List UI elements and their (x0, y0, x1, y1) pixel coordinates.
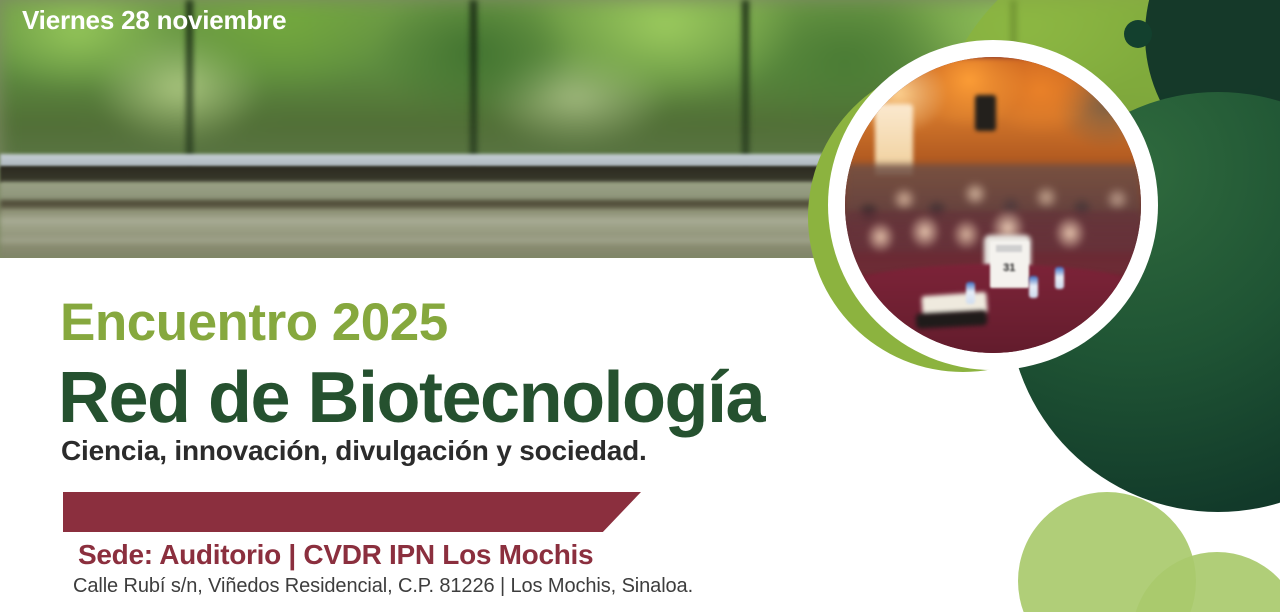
photo-water-bottle (966, 282, 975, 304)
photo-water-bottle (1029, 276, 1038, 298)
event-tagline: Ciencia, innovación, divulgación y socie… (61, 437, 647, 465)
event-kicker: Encuentro 2025 (60, 296, 448, 349)
photo-card-header (996, 245, 1022, 252)
photo-table-number-card: 31 (990, 241, 1028, 288)
event-headline: Red de Biotecnología (58, 362, 764, 434)
dark-green-dot (1124, 20, 1152, 48)
poster-copy: Encuentro 2025 Red de Biotecnología Cien… (0, 0, 900, 612)
photo-table-number: 31 (990, 262, 1028, 274)
event-date-label: Viernes 28 noviembre (22, 7, 286, 33)
poster-canvas: 31 Encuentro 2025 Red de Biotecnología C… (0, 0, 1280, 612)
photo-table-items (916, 310, 988, 328)
photo-speaker-box (975, 95, 996, 131)
photo-water-bottle (1055, 267, 1064, 289)
event-venue: Sede: Auditorio | CVDR IPN Los Mochis (78, 541, 593, 569)
event-date-ribbon (63, 492, 641, 532)
event-address: Calle Rubí s/n, Viñedos Residencial, C.P… (73, 576, 693, 596)
